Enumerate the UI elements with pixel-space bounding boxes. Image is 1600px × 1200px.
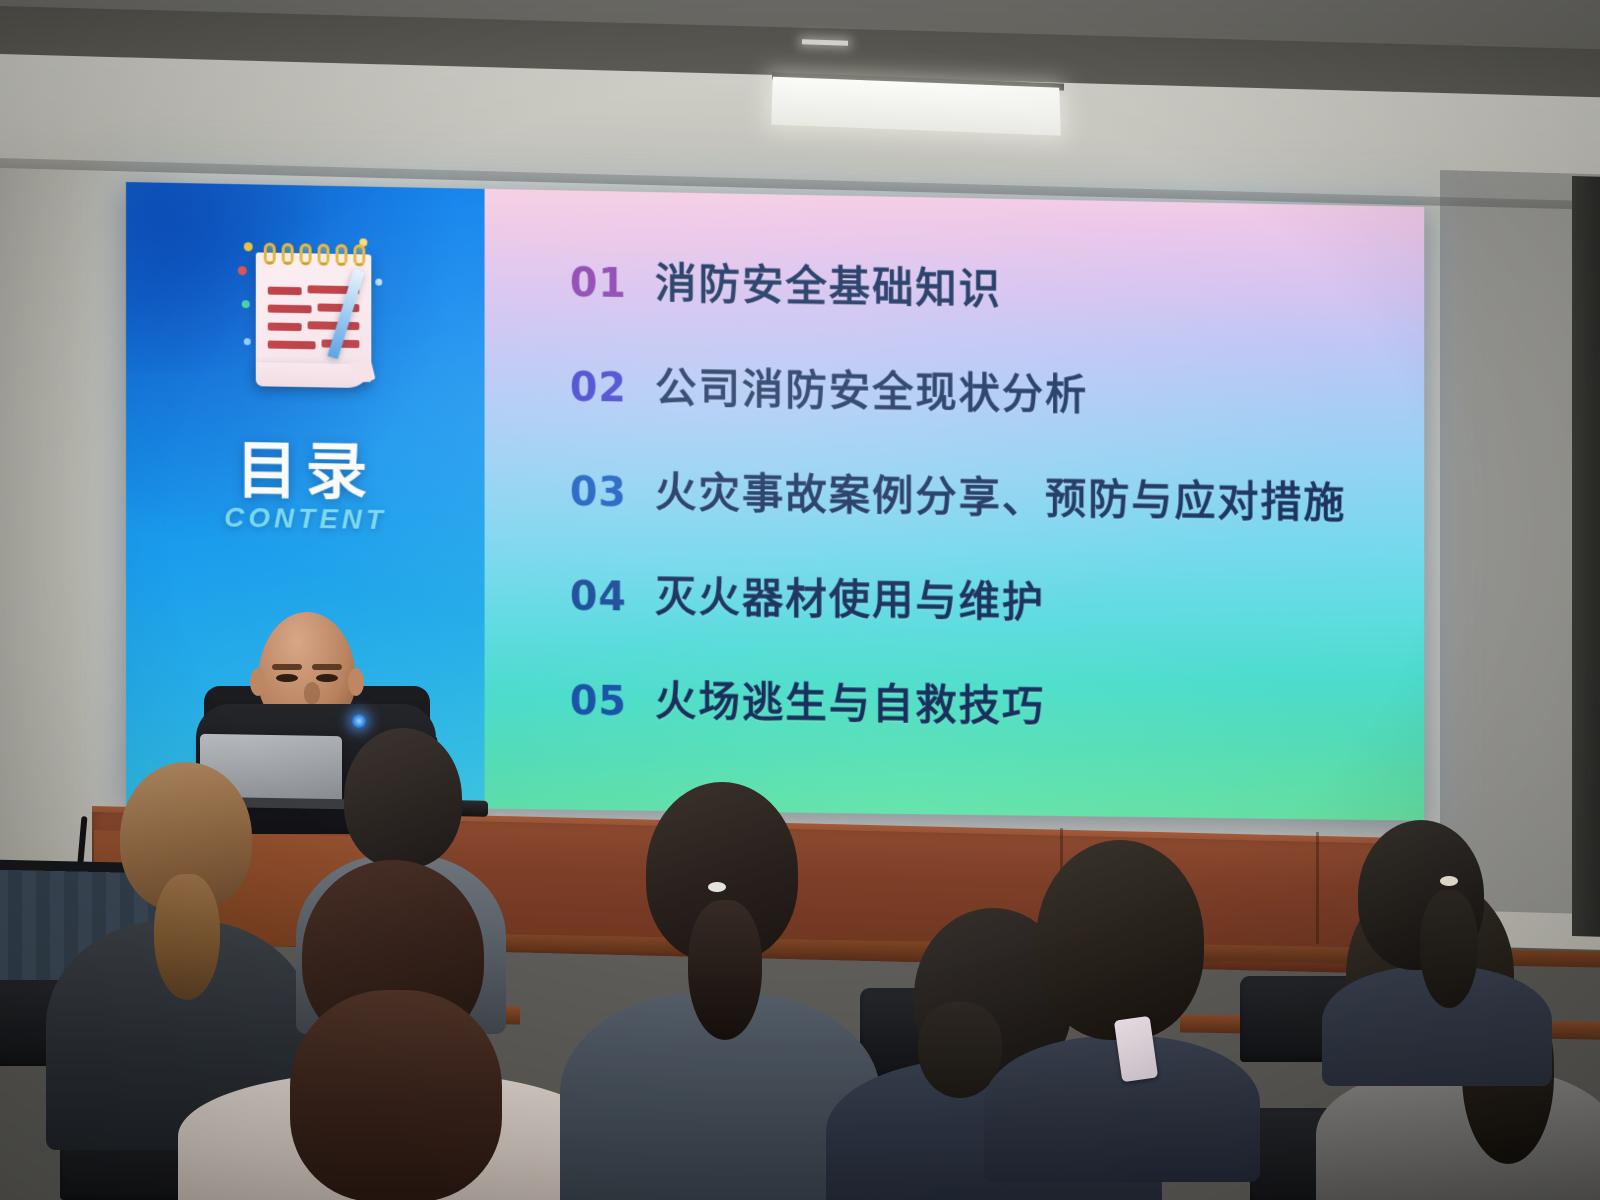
person-ponytail bbox=[1420, 890, 1478, 1008]
person-head bbox=[1036, 840, 1204, 1040]
wall-edge-right bbox=[1572, 176, 1600, 937]
audience-person bbox=[178, 860, 608, 1200]
audience-person bbox=[984, 840, 1260, 1170]
toc-number: 02 bbox=[570, 365, 655, 412]
toc-item-05: 05 火场逃生与自救技巧 bbox=[570, 666, 1401, 738]
notepad-icon bbox=[238, 234, 387, 396]
slide-panel-title: 目录 bbox=[126, 418, 485, 514]
slide-content-panel: 01 消防安全基础知识 02 公司消防安全现状分析 03 火灾事故案例分享、预防… bbox=[485, 189, 1425, 821]
toc-item-03: 03 火灾事故案例分享、预防与应对措施 bbox=[570, 457, 1401, 531]
person-torso bbox=[1316, 1066, 1600, 1200]
toc-number: 04 bbox=[570, 574, 655, 621]
person-head bbox=[344, 728, 462, 868]
person-long-hair bbox=[290, 990, 502, 1200]
slide-panel-subtitle: CONTENT bbox=[126, 500, 485, 538]
audience-person bbox=[1322, 820, 1552, 1070]
hair-tie bbox=[1440, 876, 1458, 886]
toc-number: 01 bbox=[570, 260, 655, 307]
toc-item-02: 02 公司消防安全现状分析 bbox=[570, 353, 1401, 428]
presenter-nose bbox=[304, 682, 320, 704]
hair-tie bbox=[708, 882, 726, 892]
table-of-contents: 01 消防安全基础知识 02 公司消防安全现状分析 03 火灾事故案例分享、预防… bbox=[570, 248, 1401, 782]
notepad-page-curl bbox=[256, 362, 372, 388]
toc-item-01: 01 消防安全基础知识 bbox=[570, 248, 1401, 324]
toc-item-label: 火灾事故案例分享、预防与应对措施 bbox=[655, 459, 1346, 531]
toc-item-label: 公司消防安全现状分析 bbox=[655, 354, 1088, 422]
presenter-badge-light bbox=[352, 714, 366, 728]
toc-item-label: 灭火器材使用与维护 bbox=[655, 563, 1045, 629]
toc-number: 03 bbox=[570, 469, 655, 516]
toc-item-label: 火场逃生与自救技巧 bbox=[655, 668, 1045, 734]
toc-number: 05 bbox=[570, 678, 655, 725]
lecture-room-scene: 目录 CONTENT 01 消防安全基础知识 02 公司消防安全现状分析 03 … bbox=[0, 0, 1600, 1200]
toc-item-label: 消防安全基础知识 bbox=[655, 250, 1002, 317]
person-ponytail bbox=[688, 900, 762, 1040]
toc-item-04: 04 灭火器材使用与维护 bbox=[570, 562, 1401, 635]
